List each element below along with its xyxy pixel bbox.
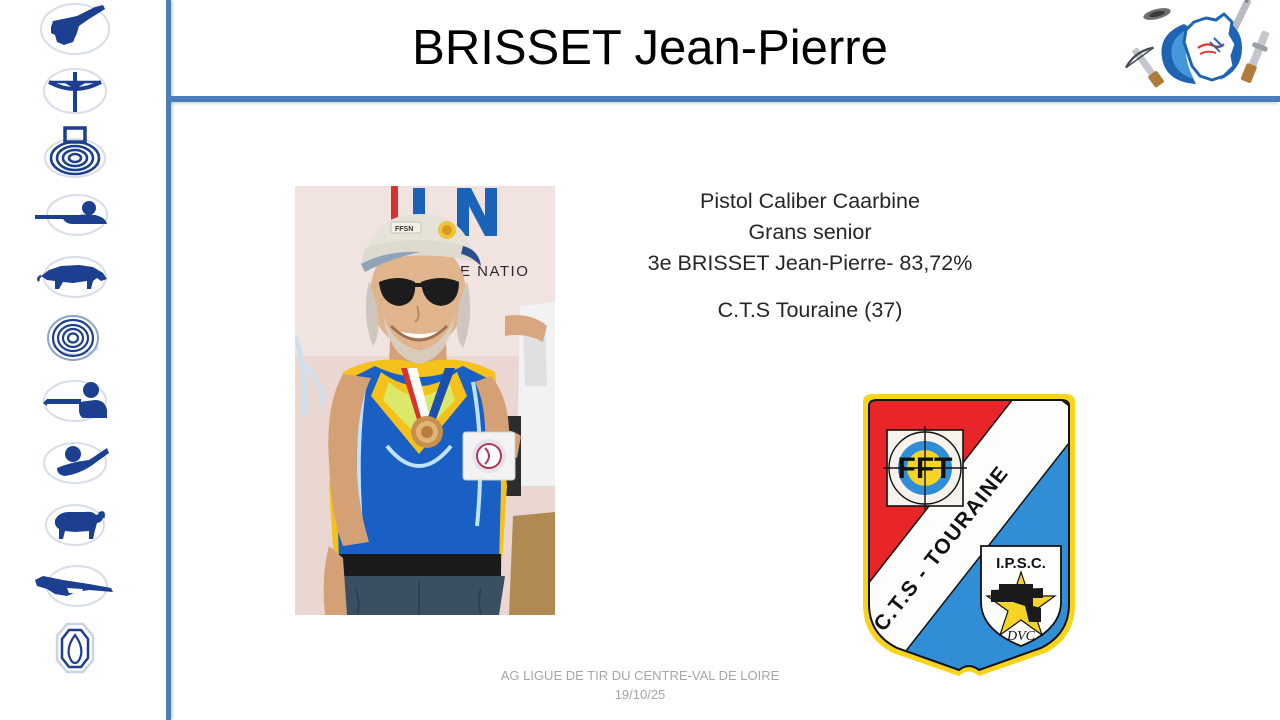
slide-canvas: BRISSET Jean-Pierre	[0, 0, 1280, 720]
ram-silhouette-icon	[33, 496, 117, 554]
emblem-ipsc-motto: DVC	[1006, 629, 1036, 644]
award-ceremony-photo: E NATIO	[295, 186, 555, 615]
emblem-ipsc-text: I.P.S.C.	[996, 555, 1046, 572]
emblem-federation-text: FFT	[898, 452, 953, 485]
result-category: Grans senior	[600, 217, 1020, 248]
ligue-centre-val-de-loire-logo	[1124, 0, 1280, 96]
result-text-block: Pistol Caliber Caarbine Grans senior 3e …	[600, 186, 1020, 326]
crossbow-icon	[33, 62, 117, 120]
svg-text:E NATIO: E NATIO	[460, 263, 529, 280]
pistol-icon	[33, 0, 117, 58]
pistol-shooter-icon	[33, 372, 117, 430]
prone-rifle-shooter-icon	[33, 186, 117, 244]
cts-touraine-emblem: C.T.S - TOURAINE FFT I.P.S.C.	[855, 394, 1083, 676]
vertical-accent-rule	[166, 0, 171, 720]
result-spacer	[600, 279, 1020, 295]
result-discipline: Pistol Caliber Caarbine	[600, 186, 1020, 217]
footer-organisation: AG LIGUE DE TIR DU CENTRE-VAL DE LOIRE	[420, 666, 860, 685]
discipline-icon-sidebar	[0, 0, 166, 720]
target-rings-icon	[33, 310, 117, 368]
slide-footer: AG LIGUE DE TIR DU CENTRE-VAL DE LOIRE 1…	[420, 666, 860, 704]
rifle-icon	[33, 558, 117, 616]
page-title: BRISSET Jean-Pierre	[200, 8, 1100, 88]
result-placement: 3e BRISSET Jean-Pierre- 83,72%	[600, 248, 1020, 279]
horizontal-accent-rule	[168, 96, 1280, 102]
svg-text:FFSN: FFSN	[395, 226, 413, 233]
wild-boar-icon	[33, 248, 117, 306]
rifle-shooter-icon	[33, 434, 117, 492]
result-club: C.T.S Touraine (37)	[600, 295, 1020, 326]
footer-date: 19/10/25	[420, 685, 860, 704]
target-frame-icon	[33, 124, 117, 182]
flame-octagon-icon	[33, 620, 117, 678]
